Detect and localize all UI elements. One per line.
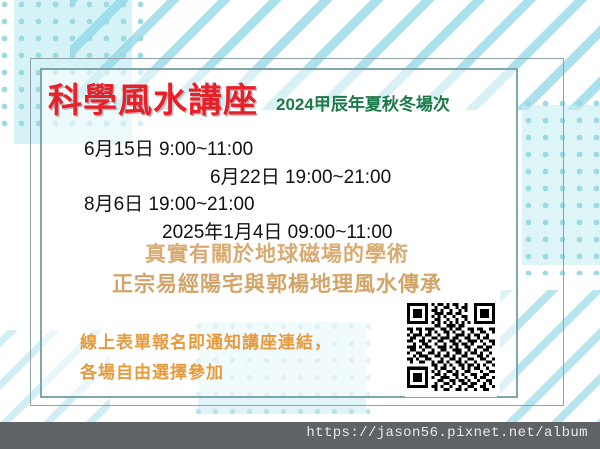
session-list: 6月15日 9:00~11:00 6月22日 19:00~21:00 8月6日 … (40, 136, 514, 247)
page-title: 科學風水講座 (48, 84, 258, 118)
tagline-block: 真實有關於地球磁場的學術 正宗易經陽宅與郭楊地理風水傳承 (40, 240, 514, 300)
session-item: 6月22日 19:00~21:00 (40, 164, 514, 192)
tagline-line: 正宗易經陽宅與郭楊地理風水傳承 (40, 270, 514, 300)
watermark-url: https://jason56.pixnet.net/album (306, 425, 588, 441)
notice-block: 線上表單報名即通知講座連結， 各場自由選擇參加 (58, 328, 398, 388)
notice-line: 各場自由選擇參加 (58, 358, 398, 388)
session-item: 6月15日 9:00~11:00 (40, 136, 514, 164)
qr-code-icon[interactable] (405, 297, 497, 397)
watermark-bar: https://jason56.pixnet.net/album (0, 422, 600, 449)
cyan-block-right (522, 105, 600, 265)
diagonal-stripes-bottom-right (500, 290, 600, 435)
dot-grid-right (520, 95, 600, 275)
qr-code-svg (407, 299, 495, 395)
tagline-line: 真實有關於地球磁場的學術 (40, 240, 514, 270)
notice-line: 線上表單報名即通知講座連結， (58, 328, 398, 358)
page-subtitle: 2024甲辰年夏秋冬場次 (276, 90, 450, 115)
poster-canvas: 科學風水講座 2024甲辰年夏秋冬場次 6月15日 9:00~11:00 6月2… (0, 0, 600, 449)
session-item: 8月6日 19:00~21:00 (40, 191, 514, 219)
title-row: 科學風水講座 2024甲辰年夏秋冬場次 (48, 84, 508, 118)
